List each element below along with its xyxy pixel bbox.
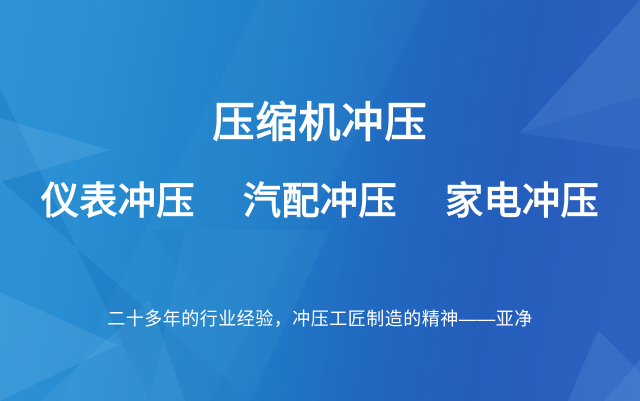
headline-primary: 压缩机冲压 [0,99,640,147]
promo-banner: 压缩机冲压 仪表冲压 汽配冲压 家电冲压 二十多年的行业经验，冲压工匠制造的精神… [0,0,640,401]
headline-secondary-item-1: 仪表冲压 [41,181,195,223]
headline-secondary-item-3: 家电冲压 [445,181,599,223]
banner-tagline: 二十多年的行业经验，冲压工匠制造的精神——亚净 [0,306,640,332]
headline-secondary: 仪表冲压 汽配冲压 家电冲压 [0,179,640,225]
banner-content: 压缩机冲压 仪表冲压 汽配冲压 家电冲压 二十多年的行业经验，冲压工匠制造的精神… [0,0,640,401]
headline-secondary-item-2: 汽配冲压 [243,181,397,223]
